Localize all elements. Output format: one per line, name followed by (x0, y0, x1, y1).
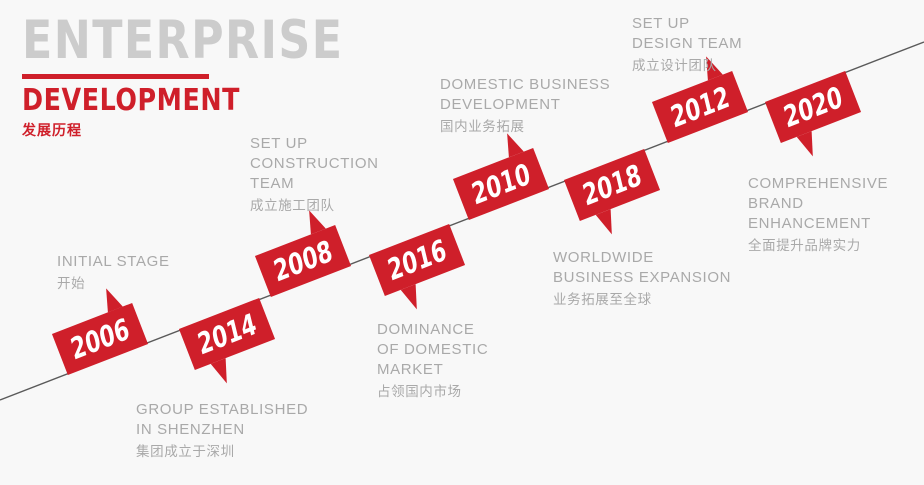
milestone-caption-2018: WORLDWIDE BUSINESS EXPANSION业务拓展至全球 (553, 248, 731, 311)
banner-year-label: 2006 (61, 305, 139, 374)
banner-pointer-tail (401, 285, 425, 313)
banner-year-label: 2012 (661, 72, 739, 141)
caption-text-cn: 全面提升品牌实力 (748, 236, 888, 257)
caption-text-cn: 成立施工团队 (250, 196, 379, 217)
milestone-caption-2014: GROUP ESTABLISHED IN SHENZHEN集团成立于深圳 (136, 400, 308, 463)
banner-year-label: 2014 (188, 299, 266, 368)
caption-text-en: COMPREHENSIVE BRAND ENHANCEMENT (748, 174, 888, 234)
caption-text-en: SET UP CONSTRUCTION TEAM (250, 134, 379, 194)
caption-text-cn: 成立设计团队 (632, 56, 742, 77)
year-banner-2012[interactable]: 2012 (652, 71, 748, 143)
caption-text-en: DOMINANCE OF DOMESTIC MARKET (377, 320, 488, 380)
caption-text-cn: 占领国内市场 (377, 382, 488, 403)
infographic-canvas: ENTERPRISE DEVELOPMENT 发展历程 2006INITIAL … (0, 0, 924, 485)
title-divider (22, 74, 209, 79)
year-banner-2016[interactable]: 2016 (369, 224, 465, 296)
banner-year-label: 2008 (264, 226, 342, 295)
caption-text-en: SET UP DESIGN TEAM (632, 14, 742, 54)
year-banner-2006[interactable]: 2006 (52, 303, 148, 375)
page-title: ENTERPRISE DEVELOPMENT 发展历程 (22, 14, 322, 141)
banner-year-label: 2020 (774, 72, 852, 141)
year-banner-2018[interactable]: 2018 (564, 149, 660, 221)
caption-text-cn: 开始 (57, 274, 170, 295)
caption-text-en: WORLDWIDE BUSINESS EXPANSION (553, 248, 731, 288)
caption-text-en: GROUP ESTABLISHED IN SHENZHEN (136, 400, 308, 440)
milestone-caption-2006: INITIAL STAGE开始 (57, 252, 170, 295)
banner-year-label: 2010 (462, 149, 540, 218)
year-banner-2010[interactable]: 2010 (453, 148, 549, 220)
caption-text-en: INITIAL STAGE (57, 252, 170, 272)
title-main: ENTERPRISE (22, 14, 301, 68)
year-banner-2008[interactable]: 2008 (255, 225, 351, 297)
caption-text-cn: 集团成立于深圳 (136, 442, 308, 463)
milestone-caption-2010: DOMESTIC BUSINESS DEVELOPMENT国内业务拓展 (440, 75, 610, 138)
year-banner-2014[interactable]: 2014 (179, 298, 275, 370)
banner-year-label: 2016 (378, 226, 456, 295)
milestone-caption-2012: SET UP DESIGN TEAM成立设计团队 (632, 14, 742, 77)
milestone-caption-2020: COMPREHENSIVE BRAND ENHANCEMENT全面提升品牌实力 (748, 174, 888, 257)
year-banner-2020[interactable]: 2020 (765, 71, 861, 143)
caption-text-cn: 业务拓展至全球 (553, 290, 731, 311)
caption-text-en: DOMESTIC BUSINESS DEVELOPMENT (440, 75, 610, 115)
milestone-caption-2008: SET UP CONSTRUCTION TEAM成立施工团队 (250, 134, 379, 217)
title-subtitle: DEVELOPMENT (22, 85, 304, 116)
caption-text-cn: 国内业务拓展 (440, 117, 610, 138)
milestone-caption-2016: DOMINANCE OF DOMESTIC MARKET占领国内市场 (377, 320, 488, 403)
banner-year-label: 2018 (573, 150, 651, 219)
